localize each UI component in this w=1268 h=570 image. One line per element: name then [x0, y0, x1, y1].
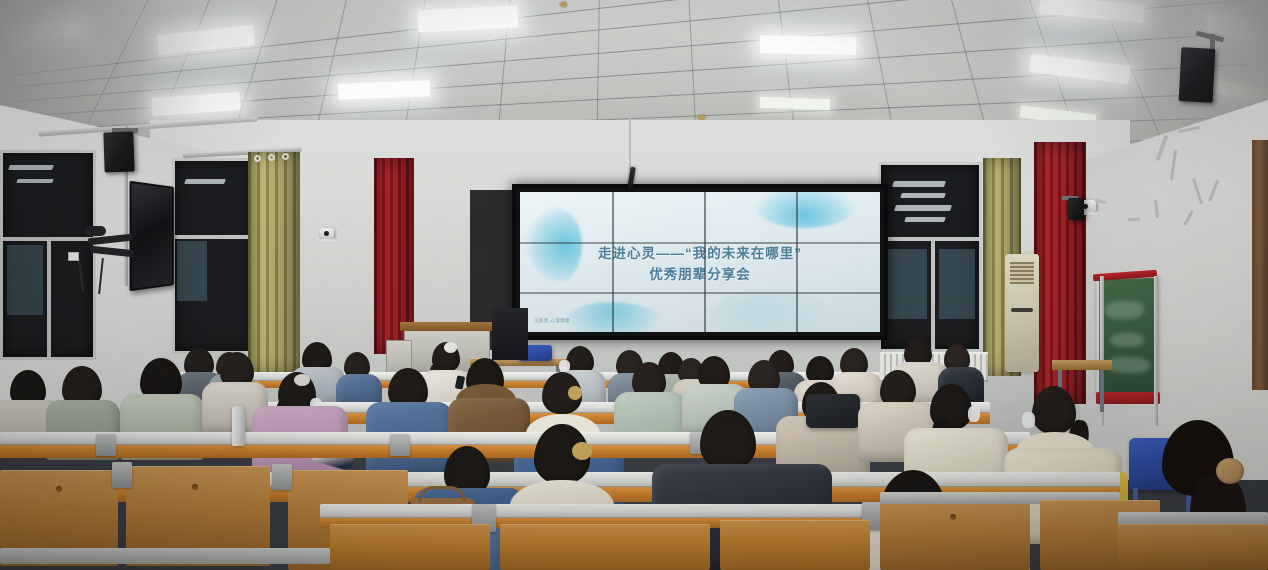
handbag-strap — [418, 486, 466, 502]
mobile-whiteboard — [1096, 274, 1157, 397]
whiteboard-tray — [1096, 392, 1160, 404]
wall-socket — [68, 252, 79, 261]
desk-panel — [720, 520, 870, 570]
window-left — [0, 150, 96, 360]
lecture-hall-photo: 走进心灵——“我的未来在哪里” 优秀朋辈分享会 正能量 心理健康 — [0, 0, 1268, 570]
ceiling-light-panel — [760, 35, 856, 55]
sprinkler-head — [560, 2, 567, 7]
desk-bracket — [96, 434, 116, 456]
screen-bezel — [520, 242, 880, 244]
whiteboard-leg — [1154, 276, 1158, 426]
ac-control-strip — [1011, 308, 1033, 312]
slide-title-line-1: 走进心灵——“我的未来在哪里” — [520, 244, 880, 265]
slide-title-line-2: 优秀朋辈分享会 — [520, 265, 880, 286]
video-wall-screen: 走进心灵——“我的未来在哪里” 优秀朋辈分享会 正能量 心理健康 — [520, 192, 880, 332]
wall-speaker-left — [103, 131, 134, 172]
door-frame — [1252, 140, 1268, 390]
curtain-ring — [282, 153, 289, 160]
window-right — [878, 162, 982, 352]
slide-splash-art — [756, 192, 854, 228]
curtain-ring — [254, 155, 261, 162]
desk-rail — [0, 548, 330, 564]
slide-watermark: 正能量 心理健康 — [534, 318, 570, 324]
water-bottle — [232, 406, 245, 446]
monitor-arm-base — [84, 226, 106, 236]
chalk-smudge — [1111, 333, 1144, 347]
lcd-video-wall: 走进心灵——“我的未来在哪里” 优秀朋辈分享会 正能量 心理健康 — [512, 184, 888, 340]
wall-speaker-right — [1179, 47, 1216, 103]
slide-title: 走进心灵——“我的未来在哪里” 优秀朋辈分享会 — [520, 244, 880, 286]
ceiling-light-panel — [338, 80, 431, 99]
mic-drop-pole — [629, 110, 631, 170]
desk-panel — [880, 500, 1030, 570]
surveillance-camera — [320, 228, 334, 239]
desk-bracket — [112, 462, 132, 488]
wall-speaker-mid — [1068, 198, 1084, 220]
screen-bezel — [612, 192, 614, 332]
window-left-far — [172, 158, 258, 354]
front-equipment-rack — [492, 308, 528, 360]
desk-panel — [500, 524, 710, 570]
desk-panel — [1118, 524, 1268, 570]
screen-bezel — [704, 192, 706, 332]
chalk-smudge — [1107, 357, 1150, 374]
desk-bracket — [272, 464, 292, 490]
desk-panel — [330, 524, 490, 570]
screen-bezel — [796, 192, 798, 332]
curtain-gold-left — [248, 152, 300, 374]
slide-splash-art — [710, 288, 830, 332]
screen-bezel — [520, 292, 880, 294]
side-desk-right — [1052, 360, 1112, 370]
wall-monitor — [130, 181, 174, 291]
desk-bracket — [390, 434, 410, 456]
chalk-smudge — [1105, 300, 1144, 319]
curtain-ring — [268, 154, 275, 161]
ac-vent — [1010, 262, 1034, 284]
side-desk-leg — [1100, 370, 1104, 412]
air-conditioner-unit — [1005, 254, 1039, 372]
lectern-top — [400, 322, 494, 331]
camera-lens — [324, 231, 329, 236]
backpack — [806, 394, 860, 428]
camera-mount — [318, 239, 336, 242]
